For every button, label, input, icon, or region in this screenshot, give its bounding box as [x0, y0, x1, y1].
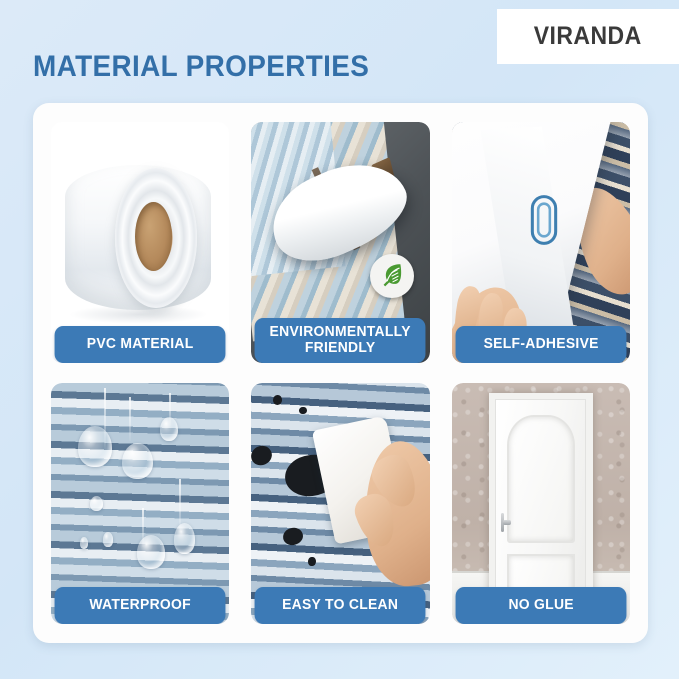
eco-badge: [370, 254, 414, 298]
features-grid: PVC MATERIAL: [51, 122, 630, 624]
feature-tile-environmentally-friendly[interactable]: ENVIRONMENTALLY FRIENDLY: [251, 122, 429, 363]
water-droplet: [103, 532, 114, 546]
water-droplet: [90, 496, 102, 510]
handle-lever: [503, 520, 511, 524]
water-droplet: [80, 537, 89, 549]
dirt-mark: [273, 395, 282, 405]
door-panel-top: [507, 415, 575, 543]
leaf-icon: [378, 262, 406, 290]
page-title: MATERIAL PROPERTIES: [33, 50, 369, 84]
feature-tile-easy-to-clean[interactable]: EASY TO CLEAN: [251, 383, 429, 624]
dirt-mark: [282, 526, 304, 546]
paperclip-icon: [530, 194, 558, 246]
feature-label-easy-to-clean: EASY TO CLEAN: [255, 587, 426, 624]
dirt-mark: [308, 557, 315, 567]
water-droplet: [78, 426, 112, 467]
water-droplet: [160, 417, 178, 441]
droplet-trail: [129, 397, 131, 440]
features-panel: PVC MATERIAL: [33, 103, 648, 643]
water-droplet: [174, 523, 195, 554]
feature-tile-self-adhesive[interactable]: SELF-ADHESIVE: [452, 122, 630, 363]
brand-logo-plate: VIRANDA: [497, 9, 679, 64]
feature-tile-pvc-material[interactable]: PVC MATERIAL: [51, 122, 229, 363]
feature-tile-waterproof[interactable]: WATERPROOF: [51, 383, 229, 624]
door-handle: [499, 513, 511, 532]
water-droplet: [137, 535, 166, 569]
feature-label-pvc-material: PVC MATERIAL: [55, 326, 226, 363]
door-frame: [489, 393, 592, 615]
feature-label-no-glue: NO GLUE: [455, 587, 626, 624]
dirt-mark: [299, 407, 306, 414]
infographic-page: VIRANDA MATERIAL PROPERTIES PVC MATERIAL: [0, 0, 679, 679]
brand-name: VIRANDA: [534, 22, 642, 51]
feature-tile-no-glue[interactable]: NO GLUE: [452, 383, 630, 624]
dirt-mark: [251, 443, 275, 468]
feature-label-environmentally-friendly: ENVIRONMENTALLY FRIENDLY: [255, 318, 426, 363]
feature-label-self-adhesive: SELF-ADHESIVE: [455, 326, 626, 363]
feature-label-waterproof: WATERPROOF: [55, 587, 226, 624]
water-droplet: [122, 443, 152, 479]
door-leaf: [495, 399, 586, 614]
